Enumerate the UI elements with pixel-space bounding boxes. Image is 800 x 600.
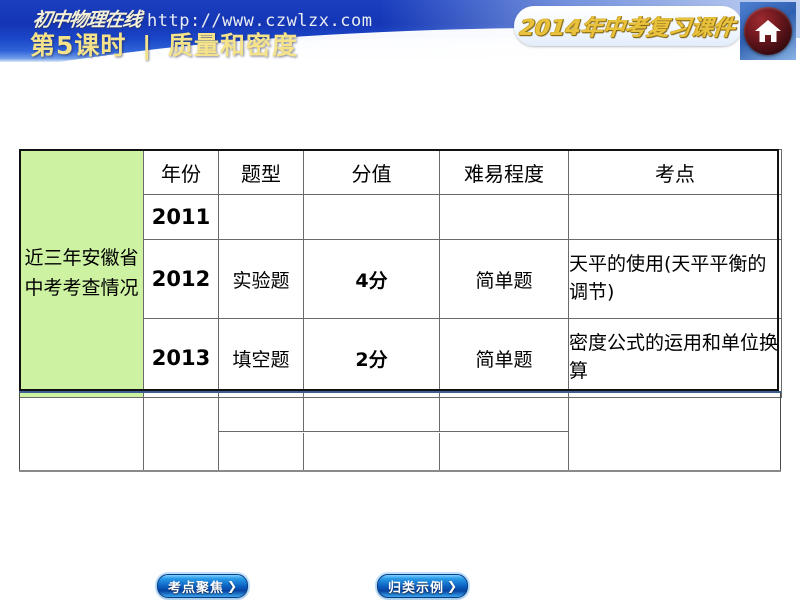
column-header-type: 题型 <box>219 150 304 195</box>
cell-difficulty-2012: 简单题 <box>440 240 569 319</box>
exam-summary-table-wrap: 近三年安徽省中考考查情况 年份 题型 分值 难易程度 考点 2011 2012 … <box>19 149 781 398</box>
table-row-header: 近三年安徽省中考考查情况 年份 题型 分值 难易程度 考点 <box>20 150 782 195</box>
grid-line-right <box>780 393 781 471</box>
cell-point-2011 <box>569 195 782 240</box>
course-banner-label: 2014年中考复习课件 <box>519 10 738 42</box>
page-title-topic: 质量和密度 <box>168 31 298 60</box>
cell-point-2013: 密度公式的运用和单位换算 <box>569 319 782 398</box>
course-banner: 2014年中考复习课件 <box>514 6 742 46</box>
cell-difficulty-2013: 简单题 <box>440 319 569 398</box>
cell-point-2012: 天平的使用(天平平衡的调节) <box>569 240 782 319</box>
grid-line-col4-upper <box>439 393 440 431</box>
row-group-label: 近三年安徽省中考考查情况 <box>20 150 144 398</box>
column-header-year: 年份 <box>144 150 219 195</box>
cell-score-2012: 4分 <box>304 240 440 319</box>
grid-line-col5 <box>568 393 569 471</box>
column-header-point: 考点 <box>569 150 782 195</box>
grid-line-mid-horizontal <box>218 431 568 432</box>
nav-button-guilei-shili[interactable]: 归类示例 ❯ <box>377 574 468 598</box>
chevron-right-icon: ❯ <box>447 579 457 593</box>
home-button-circle <box>744 7 792 55</box>
cell-type-2013: 填空题 <box>219 319 304 398</box>
cell-difficulty-2011 <box>440 195 569 240</box>
page-title-separator: | <box>142 31 152 60</box>
cell-type-2011 <box>219 195 304 240</box>
nav-button-kaodian-label: 考点聚焦 <box>168 577 224 596</box>
chevron-right-icon: ❯ <box>227 579 237 593</box>
nav-button-guilei-label: 归类示例 <box>388 577 444 596</box>
nav-button-kaodian-jujiao[interactable]: 考点聚焦 ❯ <box>157 574 248 598</box>
cell-score-2011 <box>304 195 440 240</box>
cell-type-2012: 实验题 <box>219 240 304 319</box>
grid-line-col3-upper <box>303 393 304 431</box>
cell-year-2012: 2012 <box>144 240 219 319</box>
grid-line-col1 <box>143 393 144 471</box>
grid-line-left <box>19 393 20 471</box>
cell-score-2013: 2分 <box>304 319 440 398</box>
grid-line-col3-lower <box>303 433 304 471</box>
grid-line-col2 <box>218 393 219 471</box>
page-title-lesson: 第5课时 <box>30 31 126 60</box>
grid-line-bottom <box>19 470 781 472</box>
cell-year-2013: 2013 <box>144 319 219 398</box>
empty-grid-rows <box>19 393 781 471</box>
cell-year-2011: 2011 <box>144 195 219 240</box>
exam-summary-table: 近三年安徽省中考考查情况 年份 题型 分值 难易程度 考点 2011 2012 … <box>19 149 782 398</box>
column-header-score: 分值 <box>304 150 440 195</box>
home-button[interactable] <box>740 2 796 60</box>
page-title: 第5课时 | 质量和密度 <box>30 26 298 62</box>
home-icon <box>754 18 782 44</box>
grid-line-col4-lower <box>439 433 440 471</box>
column-header-difficulty: 难易程度 <box>440 150 569 195</box>
